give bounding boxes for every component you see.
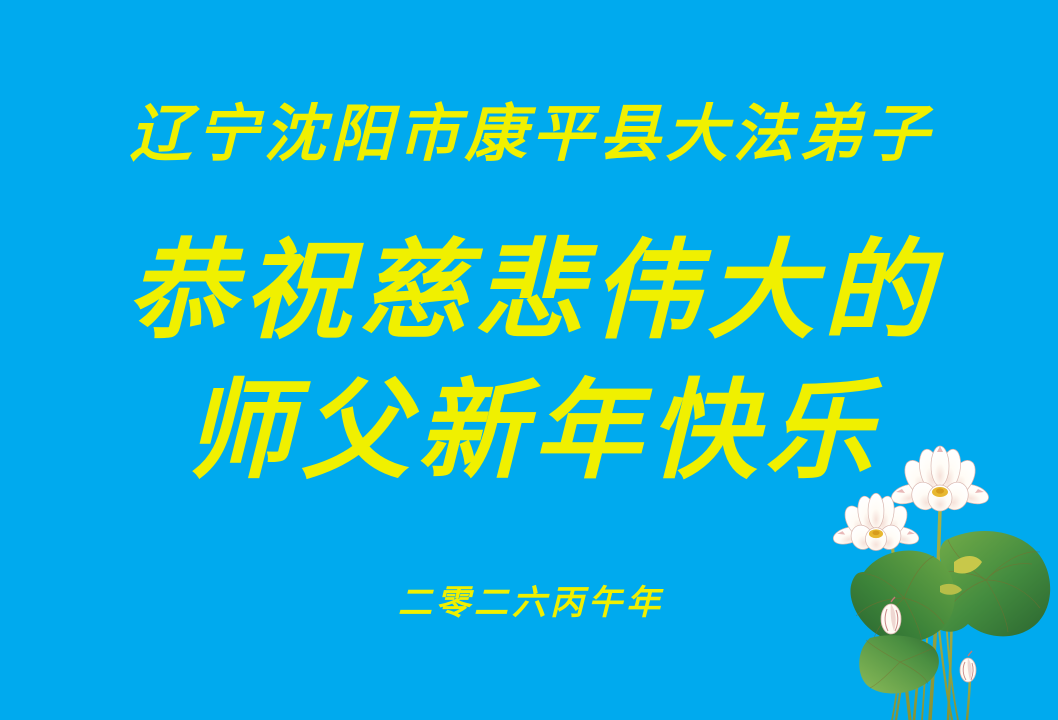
date-line: 二零二六丙午年 [0, 586, 1058, 620]
new-year-greeting-card: 辽宁沈阳市康平县大法弟子 恭祝慈悲伟大的 师父新年快乐 二零二六丙午年 [0, 0, 1058, 720]
wish-line-1: 恭祝慈悲伟大的 [0, 238, 1058, 346]
lotus-bud-lower [960, 651, 976, 682]
organization-line: 辽宁沈阳市康平县大法弟子 [0, 103, 1058, 165]
wish-line-2: 师父新年快乐 [0, 378, 1058, 486]
